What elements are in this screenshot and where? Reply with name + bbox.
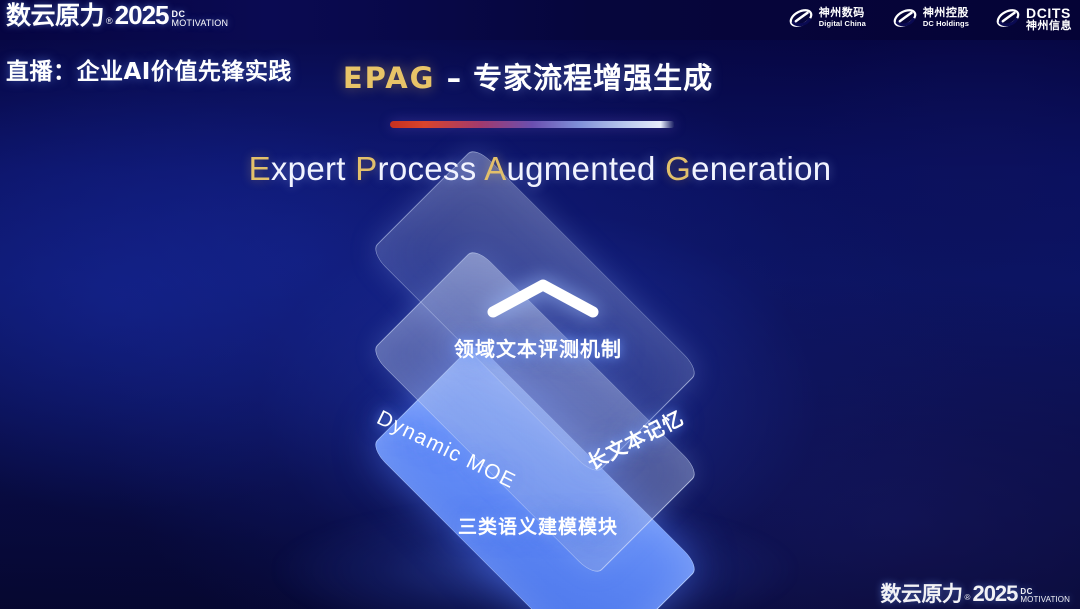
watermark-year: 2025 bbox=[972, 582, 1017, 605]
watermark-registered-mark: ® bbox=[965, 591, 971, 605]
gradient-divider bbox=[390, 121, 675, 128]
subtitle-cap-g: G bbox=[665, 150, 691, 187]
partner-name-cn: 神州数码 bbox=[819, 7, 866, 18]
subtitle-cap-e: E bbox=[249, 150, 271, 187]
swoosh-icon bbox=[995, 5, 1021, 31]
subtitle-word-augmented: ugmented bbox=[507, 150, 666, 187]
watermark-motivation-label: MOTIVATION bbox=[1020, 596, 1070, 604]
partner-name-cn: 神州信息 bbox=[1026, 20, 1072, 31]
brand-year: 2025 bbox=[115, 2, 169, 29]
watermark-logo: 数云原力 ® 2025 DC MOTIVATION bbox=[881, 582, 1070, 605]
partner-text: DCITS 神州信息 bbox=[1026, 6, 1072, 31]
subtitle-word-generation: eneration bbox=[691, 150, 831, 187]
diagram-label-bottom: 三类语义建模模块 bbox=[0, 512, 1078, 539]
diagram-layer-top bbox=[370, 146, 701, 477]
page-title-acronym: EPAG bbox=[343, 61, 436, 95]
partner-name-en: Digital China bbox=[819, 18, 866, 29]
partner-name-en: DCITS bbox=[1026, 6, 1072, 20]
page-title-cn: – 专家流程增强生成 bbox=[447, 61, 714, 95]
partner-text: 神州数码 Digital China bbox=[819, 7, 866, 29]
partner-logo-dc-holdings: 神州控股 DC Holdings bbox=[892, 5, 969, 31]
brand-logo: 数云原力 ® 2025 DC MOTIVATION bbox=[6, 2, 228, 29]
watermark-name-cn: 数云原力 bbox=[881, 583, 963, 605]
swoosh-icon bbox=[788, 5, 814, 31]
subtitle-cap-a: A bbox=[484, 150, 506, 187]
partner-name-cn: 神州控股 bbox=[923, 7, 969, 18]
diagram-label-top: 领域文本评测机制 bbox=[0, 333, 1078, 362]
diagram-layer-bottom bbox=[370, 342, 701, 609]
chevron-up-icon bbox=[483, 276, 603, 320]
subtitle-cap-p: P bbox=[355, 150, 377, 187]
partner-logo-dcits: DCITS 神州信息 bbox=[995, 5, 1072, 31]
diagram-label-long-text-memory: 长文本记忆 bbox=[581, 402, 688, 476]
watermark-dc-motivation: DC MOTIVATION bbox=[1020, 588, 1070, 604]
brand-motivation-label: MOTIVATION bbox=[172, 19, 229, 28]
page-subtitle: Expert Process Augmented Generation bbox=[0, 150, 1080, 188]
partner-logo-digital-china: 神州数码 Digital China bbox=[788, 5, 866, 31]
brand-registered-mark: ® bbox=[106, 13, 113, 29]
brand-dc-motivation: DC MOTIVATION bbox=[172, 10, 229, 28]
live-stream-title: 直播：企业AI价值先锋实践 bbox=[6, 52, 292, 86]
brand-name-cn: 数云原力 bbox=[6, 2, 104, 29]
swoosh-icon bbox=[892, 5, 918, 31]
partner-logos: 神州数码 Digital China 神州控股 DC Holdings bbox=[788, 5, 1072, 31]
subtitle-word-expert: xpert bbox=[271, 150, 355, 187]
diagram-label-dynamic-moe: Dynamic MOE bbox=[373, 406, 520, 494]
partner-name-en: DC Holdings bbox=[923, 18, 969, 29]
diagram-layer-middle bbox=[370, 247, 701, 578]
bottom-layer-glow bbox=[275, 500, 795, 609]
partner-text: 神州控股 DC Holdings bbox=[923, 7, 969, 29]
subtitle-word-process: rocess bbox=[378, 150, 485, 187]
slide-canvas: 数云原力 ® 2025 DC MOTIVATION 直播：企业AI价值先锋实践 … bbox=[0, 0, 1080, 609]
